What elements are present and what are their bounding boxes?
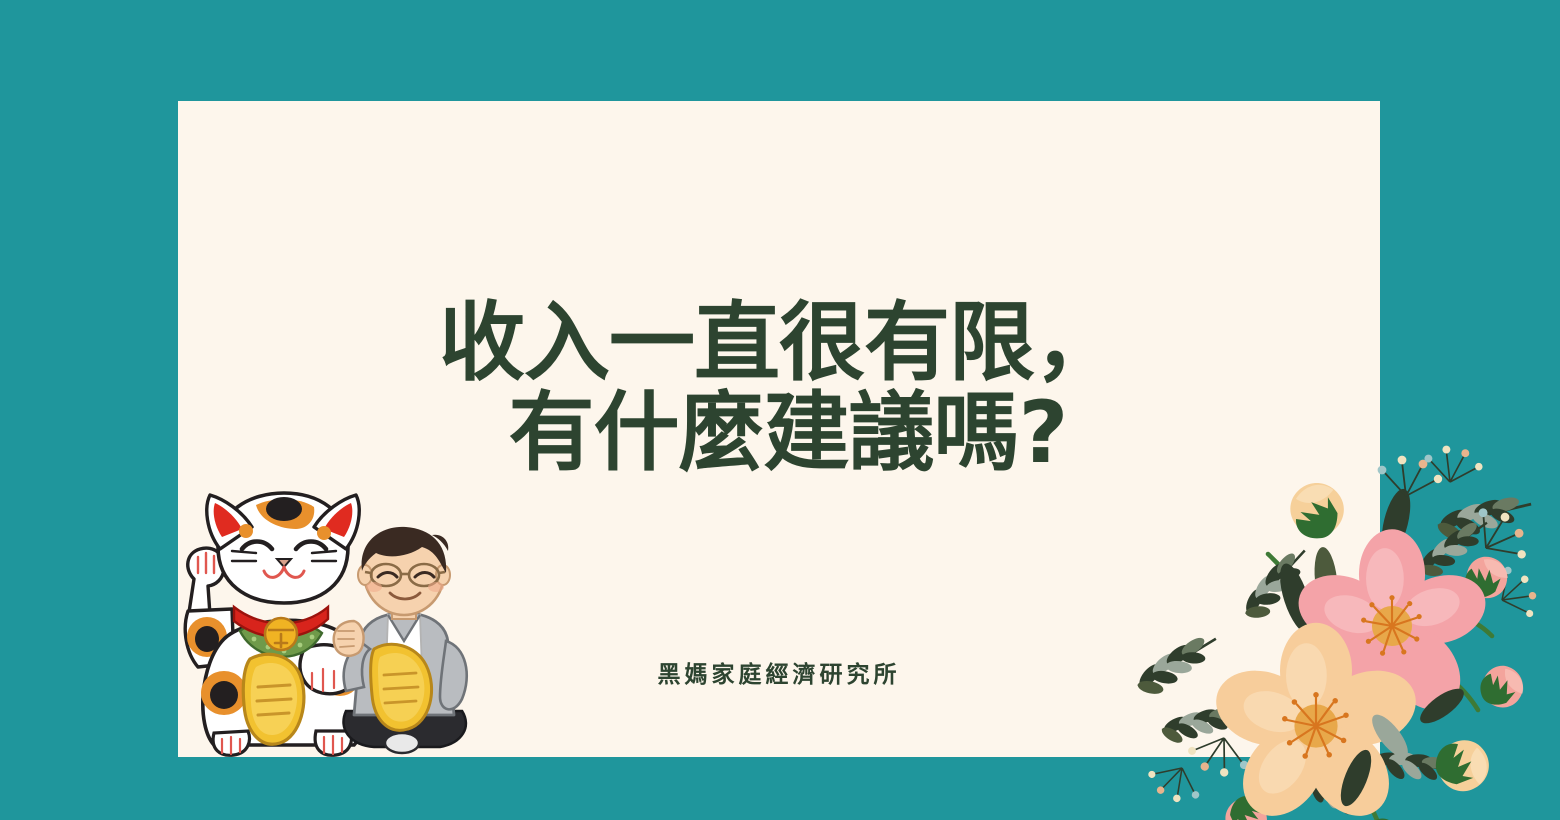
lucky-cat-illustration <box>185 493 366 755</box>
headline-line-2: 有什麼建議嗎? <box>178 390 1380 478</box>
slide-canvas: 收入一直很有限， 有什麼建議嗎? 黑媽家庭經濟研究所 <box>0 0 1560 820</box>
headline-line-1: 收入一直很有限， <box>178 300 1380 388</box>
page-title: 收入一直很有限， 有什麼建議嗎? <box>178 300 1380 477</box>
mascot-group <box>176 487 476 759</box>
seated-person-illustration <box>334 527 467 753</box>
